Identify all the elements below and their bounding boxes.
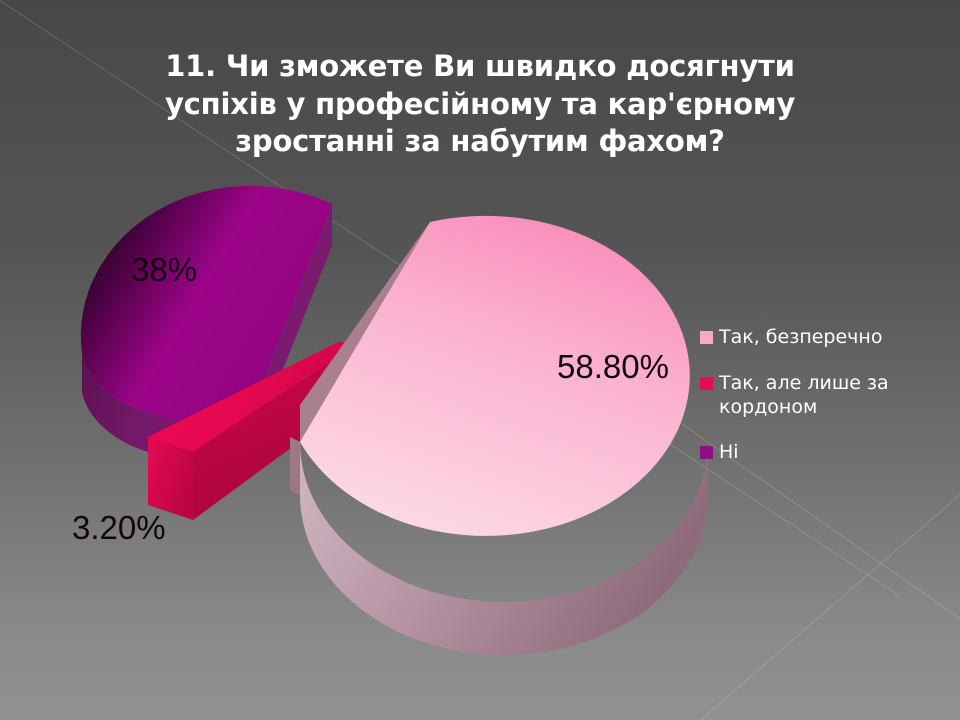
legend-swatch-icon bbox=[700, 331, 713, 344]
legend-swatch-icon bbox=[700, 377, 713, 390]
legend-item-label: Так, але лише за кордоном bbox=[719, 372, 934, 420]
data-label-kordonom: 3.20% bbox=[72, 509, 166, 547]
chart-legend: Так, безперечно Так, але лише за кордоно… bbox=[700, 326, 950, 487]
legend-item-label: Ні bbox=[719, 441, 739, 465]
pie-slice-bezperechno-flank-left bbox=[290, 437, 300, 495]
legend-item-label: Так, безперечно bbox=[719, 326, 882, 350]
data-label-bezperechno: 58.80% bbox=[557, 348, 669, 386]
legend-item-kordonom[interactable]: Так, але лише за кордоном bbox=[700, 372, 950, 420]
legend-item-ni[interactable]: Ні bbox=[700, 441, 950, 465]
slide-canvas: 11. Чи зможете Ви швидко досягнути успіх… bbox=[0, 0, 960, 720]
legend-item-bezperechno[interactable]: Так, безперечно bbox=[700, 326, 950, 350]
data-label-ni: 38% bbox=[131, 251, 197, 289]
legend-swatch-icon bbox=[700, 446, 713, 459]
